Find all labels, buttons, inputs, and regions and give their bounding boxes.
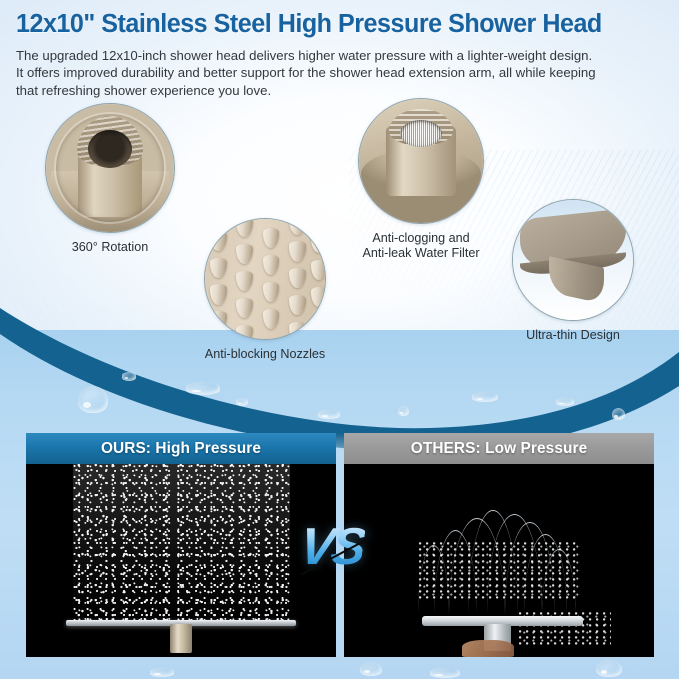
- thin-corner-photo: [512, 199, 634, 321]
- comparison-panel-others: OTHERS: Low Pressure: [344, 433, 654, 657]
- feature-rotation-label: 360° Rotation: [45, 240, 175, 255]
- ball-joint-photo: [45, 103, 175, 233]
- page-title: 12x10" Stainless Steel High Pressure Sho…: [16, 10, 661, 39]
- feature-water-filter: Anti-clogging and Anti-leak Water Filter: [358, 98, 484, 261]
- feature-water-filter-label: Anti-clogging and Anti-leak Water Filter: [346, 231, 496, 261]
- comparison-panel-ours: OURS: High Pressure: [26, 433, 336, 657]
- metal-outer-ring: [54, 112, 167, 225]
- filter-label-line-2: Anti-leak Water Filter: [346, 246, 496, 261]
- description-line-1: The upgraded 12x10-inch shower head deli…: [16, 47, 656, 65]
- spray-splash: [418, 541, 579, 599]
- thin-corner-render: [513, 200, 633, 320]
- product-infographic: 12x10" Stainless Steel High Pressure Sho…: [0, 0, 679, 679]
- description-line-3: that refreshing shower experience you lo…: [16, 82, 656, 100]
- shower-head-stem: [170, 624, 192, 653]
- header-block: 12x10" Stainless Steel High Pressure Sho…: [16, 10, 671, 99]
- filter-label-line-1: Anti-clogging and: [346, 231, 496, 246]
- hand: [462, 640, 515, 657]
- feature-ultra-thin: Ultra-thin Design: [512, 199, 634, 343]
- vs-badge: VS: [296, 521, 367, 573]
- ours-header-bar: OURS: High Pressure: [26, 433, 336, 464]
- feature-nozzles: Anti-blocking Nozzles: [204, 218, 326, 362]
- spray-veil: [73, 464, 290, 622]
- feature-rotation: 360° Rotation: [45, 103, 175, 255]
- dense-spray-photo: [26, 464, 336, 657]
- nozzle-macro-photo: [204, 218, 326, 340]
- description-line-2: It offers improved durability and better…: [16, 64, 656, 82]
- weak-spray-photo: [344, 464, 654, 657]
- feature-nozzles-label: Anti-blocking Nozzles: [204, 347, 326, 362]
- feature-ultra-thin-label: Ultra-thin Design: [512, 328, 634, 343]
- page-description: The upgraded 12x10-inch shower head deli…: [16, 47, 656, 100]
- nozzle-surface: [205, 219, 325, 339]
- others-header-bar: OTHERS: Low Pressure: [344, 433, 654, 464]
- water-filter-photo: [358, 98, 484, 224]
